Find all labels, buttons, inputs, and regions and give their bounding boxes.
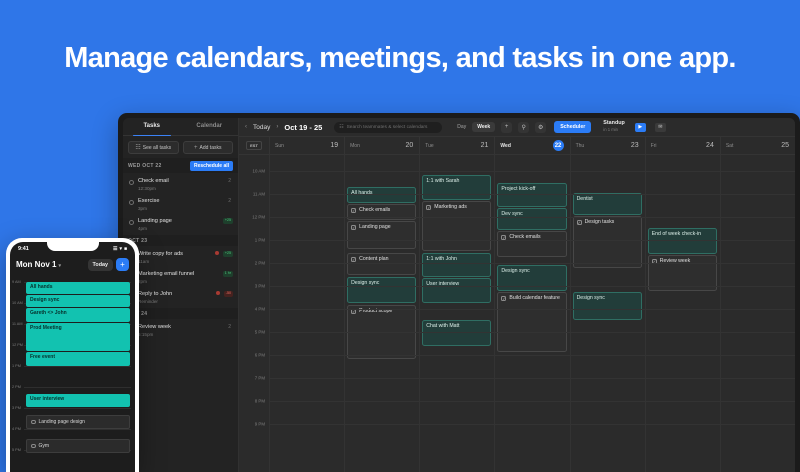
hour-gridline <box>269 424 795 425</box>
day-columns: All hands✓Check emails✓Landing page✓Cont… <box>269 155 795 472</box>
task-group-header: WED OCT 22 Reschedule all <box>123 158 238 173</box>
task-item[interactable]: Write copy for ads 11am +25 <box>123 248 238 268</box>
scheduler-button[interactable]: Scheduler <box>554 121 591 133</box>
tab-calendar[interactable]: Calendar <box>181 118 239 135</box>
event-title: Landing page <box>359 224 390 230</box>
time-label: 9 AM <box>12 280 21 284</box>
check-icon[interactable]: ✓ <box>426 205 431 210</box>
time-label: 1 PM <box>255 238 265 243</box>
calendar-event[interactable]: 1:1 with John <box>422 253 491 277</box>
calendar-event[interactable]: Design sync <box>347 277 416 303</box>
checkbox-icon[interactable] <box>31 420 36 425</box>
reschedule-all-button[interactable]: Reschedule all <box>190 161 233 171</box>
calendar-event[interactable]: ✓Design tasks <box>573 216 642 268</box>
task-badge: 2 <box>226 324 233 331</box>
time-label: 2 PM <box>255 261 265 266</box>
sidebar-tabs: Tasks Calendar <box>123 118 238 136</box>
task-item[interactable]: Marketing email funnel 2pm 1 hr <box>123 268 238 288</box>
hour-gridline <box>269 378 795 379</box>
task-badge: +25 <box>223 251 233 257</box>
hour-gridline <box>269 286 795 287</box>
people-icon: ☷ <box>339 125 343 130</box>
add-tasks-button[interactable]: + Add tasks <box>183 141 234 154</box>
time-label: 3 PM <box>12 406 21 410</box>
time-label: 5 PM <box>12 448 21 452</box>
event-title: Dentist <box>577 196 593 202</box>
page-title: Manage calendars, meetings, and tasks in… <box>0 42 800 75</box>
hour-gridline <box>269 171 795 172</box>
phone-notch <box>47 242 99 251</box>
checkbox-icon[interactable] <box>129 200 134 205</box>
hour-gridline <box>269 240 795 241</box>
calendar-event[interactable]: ✓Marketing ads <box>422 201 491 251</box>
time-label: 10 AM <box>12 301 23 305</box>
day-header-thu[interactable]: Thu 23 <box>570 137 645 154</box>
status-time: 9:41 <box>18 246 29 252</box>
tablet-screen: Tasks Calendar ☷ See all tasks + Add tas… <box>123 118 795 472</box>
day-header-wed[interactable]: Wed 22 <box>494 137 569 154</box>
phone-calendar-event[interactable]: Gym <box>26 439 130 453</box>
hour-gridline <box>269 309 795 310</box>
day-header-sun[interactable]: Sun 19 <box>269 137 344 154</box>
time-label: 12 PM <box>12 343 23 347</box>
event-title: 1:1 with Sarah <box>426 178 459 184</box>
event-title: Gareth <> John <box>30 310 67 316</box>
video-call-icon[interactable]: ▶ <box>635 123 646 132</box>
time-label: 10 AM <box>253 169 265 174</box>
calendar-event[interactable]: User interview <box>422 278 491 303</box>
day-header-fri[interactable]: Fri 24 <box>645 137 720 154</box>
calendar-event[interactable]: 1:1 with Sarah <box>422 175 491 200</box>
phone-calendar-event[interactable]: Prod Meeting <box>26 323 130 351</box>
checkbox-icon[interactable] <box>129 220 134 225</box>
event-title: Content plan <box>359 256 388 262</box>
time-label: 4 PM <box>12 427 21 431</box>
hour-gridline <box>269 194 795 195</box>
sidebar-actions: ☷ See all tasks + Add tasks <box>123 136 238 158</box>
calendar-event[interactable]: Design sync <box>573 292 642 320</box>
checkbox-icon[interactable] <box>129 180 134 185</box>
event-title: Chat with Matt <box>426 323 459 329</box>
task-group-header: OCT 23 <box>123 235 238 246</box>
priority-dot-icon <box>216 291 220 295</box>
event-title: Design sync <box>577 295 605 301</box>
timezone-cell: EST <box>239 137 269 154</box>
check-icon[interactable]: ✓ <box>577 220 582 225</box>
task-badge: 1 hr <box>223 271 233 277</box>
hour-gridline <box>24 387 131 388</box>
search-icon[interactable]: ⚲ <box>518 122 529 133</box>
task-item[interactable]: Exercise 3pm 2 <box>123 195 238 215</box>
time-label: 12 PM <box>252 215 265 220</box>
phone-header: Mon Nov 1▾ Today + <box>10 255 135 276</box>
battery-icon: ■ <box>124 246 127 252</box>
event-title: All hands <box>351 190 372 196</box>
time-axis: 10 AM11 AM12 PM1 PM2 PM3 PM4 PM5 PM6 PM7… <box>239 155 269 472</box>
calendar-event[interactable]: End of week check-in <box>648 228 717 254</box>
time-label: 8 PM <box>255 399 265 404</box>
time-label: 11 AM <box>253 192 265 197</box>
meeting-title: Standup <box>603 121 625 126</box>
upcoming-meeting[interactable]: Standup in 1 min <box>603 121 625 132</box>
see-all-tasks-button[interactable]: ☷ See all tasks <box>128 141 179 154</box>
chevron-down-icon: ▾ <box>58 263 61 269</box>
hour-gridline <box>269 217 795 218</box>
meeting-countdown: in 1 min <box>603 128 625 132</box>
check-icon[interactable]: ✓ <box>351 257 356 262</box>
calendar-event[interactable]: All hands <box>347 187 416 203</box>
hour-gridline <box>269 355 795 356</box>
check-icon[interactable]: ✓ <box>501 235 506 240</box>
view-week-button[interactable]: Week <box>472 122 495 132</box>
status-indicators: ☰ ▾ ■ <box>113 246 127 252</box>
event-title: Gym <box>39 443 50 449</box>
time-label: 6 PM <box>255 353 265 358</box>
calendar-event[interactable]: ✓Content plan <box>347 253 416 275</box>
prev-week-button[interactable]: ‹ <box>245 124 247 130</box>
calendar-event[interactable]: ✓Check emails <box>497 231 566 257</box>
phone-calendar-grid[interactable]: 9 AM10 AM11 AM12 PM1 PM2 PM3 PM4 PM5 PMA… <box>10 276 135 460</box>
view-day-button[interactable]: Day <box>452 122 471 132</box>
day-header-sat[interactable]: Sat 25 <box>720 137 795 154</box>
task-badge: +25 <box>223 218 233 224</box>
phone-add-button[interactable]: + <box>116 258 129 271</box>
time-label: 9 PM <box>255 422 265 427</box>
task-badge: -50 <box>224 291 233 297</box>
search-input[interactable]: ☷ Search teammates & select calendars <box>334 122 442 133</box>
phone-calendar-event[interactable]: Free event <box>26 352 130 366</box>
calendar-event[interactable]: Dentist <box>573 193 642 215</box>
phone-today-button[interactable]: Today <box>88 259 113 271</box>
calendar-day-header: EST Sun 19 Mon 20 Tue 21 Wed 22 <box>239 137 795 155</box>
event-title: Prod Meeting <box>30 325 62 331</box>
time-label: 11 AM <box>12 322 22 326</box>
task-list: Write copy for ads 11am +25 Marketing em… <box>123 246 238 308</box>
wifi-icon: ▾ <box>119 246 122 252</box>
check-icon[interactable]: ✓ <box>351 208 356 213</box>
time-label: 1 PM <box>12 364 21 368</box>
event-title: Project kick-off <box>501 186 535 192</box>
phone-date-selector[interactable]: Mon Nov 1▾ <box>16 260 61 269</box>
today-button[interactable]: Today <box>253 124 270 131</box>
phone-calendar-event[interactable]: Design sync <box>26 295 130 307</box>
tablet-device: Tasks Calendar ☷ See all tasks + Add tas… <box>118 113 800 472</box>
day-header-tue[interactable]: Tue 21 <box>419 137 494 154</box>
day-header-mon[interactable]: Mon 20 <box>344 137 419 154</box>
event-title: Design sync <box>501 268 529 274</box>
task-item[interactable]: Reply to John Reminder -50 <box>123 288 238 308</box>
tasks-sidebar: Tasks Calendar ☷ See all tasks + Add tas… <box>123 118 239 472</box>
gear-icon[interactable]: ⚙ <box>535 122 546 133</box>
event-title: Check emails <box>359 207 390 213</box>
calendar-toolbar: ‹ Today › Oct 19 - 25 ☷ Search teammates… <box>239 118 795 137</box>
hour-gridline <box>269 401 795 402</box>
check-icon[interactable]: ✓ <box>351 225 356 230</box>
phone-screen: 9:41 ☰ ▾ ■ Mon Nov 1▾ Today + 9 AM10 AM1… <box>10 242 135 472</box>
phone-calendar-event[interactable]: User interview <box>26 394 130 407</box>
event-title: Design tasks <box>585 219 615 225</box>
time-label: 2 PM <box>12 385 21 389</box>
calendar-event[interactable]: Project kick-off <box>497 183 566 207</box>
next-week-button[interactable]: › <box>276 124 278 130</box>
time-label: 3 PM <box>255 284 265 289</box>
event-title: Free event <box>30 354 55 360</box>
hour-gridline <box>24 366 131 367</box>
calendar-panel: ‹ Today › Oct 19 - 25 ☷ Search teammates… <box>239 118 795 472</box>
plus-icon: + <box>194 145 198 151</box>
search-placeholder: Search teammates & select calendars <box>347 125 428 130</box>
task-badge: 2 <box>226 198 233 205</box>
phone-device: 9:41 ☰ ▾ ■ Mon Nov 1▾ Today + 9 AM10 AM1… <box>6 238 139 472</box>
hour-gridline <box>24 408 131 409</box>
phone-calendar-event[interactable]: Landing page design <box>26 415 130 429</box>
calendar-event[interactable]: ✓Landing page <box>347 221 416 249</box>
event-title: All hands <box>30 284 53 290</box>
task-item[interactable]: Landing page 4pm +25 <box>123 215 238 235</box>
task-item[interactable]: Check email 12:30pm 2 <box>123 175 238 195</box>
signal-icon: ☰ <box>113 246 117 252</box>
event-title: Marketing ads <box>434 204 467 210</box>
hour-gridline <box>24 429 131 430</box>
view-toggle: Day Week <box>452 122 495 132</box>
task-badge: 2 <box>226 178 233 185</box>
time-label: 4 PM <box>255 307 265 312</box>
phone-calendar-event[interactable]: Gareth <> John <box>26 308 130 322</box>
check-icon[interactable]: ✓ <box>501 296 506 301</box>
event-title: End of week check-in <box>652 231 701 237</box>
hour-gridline <box>269 332 795 333</box>
add-event-icon[interactable]: + <box>501 122 512 133</box>
event-title: Design sync <box>30 297 59 303</box>
time-label: 5 PM <box>255 330 265 335</box>
calendar-event[interactable]: Dev sync <box>497 208 566 230</box>
task-group-header: OCT 24 <box>123 308 238 319</box>
task-list: Review week 5:15pm 2 <box>123 319 238 341</box>
calendar-grid[interactable]: 10 AM11 AM12 PM1 PM2 PM3 PM4 PM5 PM6 PM7… <box>239 155 795 472</box>
date-range-label: Oct 19 - 25 <box>284 123 322 132</box>
calendar-event[interactable]: Design sync <box>497 265 566 291</box>
task-list: Check email 12:30pm 2 Exercise 3pm 2 <box>123 173 238 235</box>
time-label: 7 PM <box>255 376 265 381</box>
checkbox-icon[interactable] <box>31 444 36 449</box>
calendar-event[interactable]: ✓Build calendar feature <box>497 292 566 352</box>
event-title: Landing page design <box>39 419 85 425</box>
phone-calendar-event[interactable]: All hands <box>26 282 130 294</box>
priority-dot-icon <box>215 251 219 255</box>
tab-tasks[interactable]: Tasks <box>123 118 181 135</box>
timezone-label: EST <box>246 141 262 150</box>
event-title: User interview <box>30 396 64 402</box>
event-title: Build calendar feature <box>509 295 559 301</box>
hour-gridline <box>269 263 795 264</box>
grid-icon: ☷ <box>135 145 140 151</box>
event-title: 1:1 with John <box>426 256 457 262</box>
task-item[interactable]: Review week 5:15pm 2 <box>123 321 238 341</box>
mail-icon[interactable]: ✉ <box>655 123 666 132</box>
calendar-event[interactable]: Chat with Matt <box>422 320 491 346</box>
